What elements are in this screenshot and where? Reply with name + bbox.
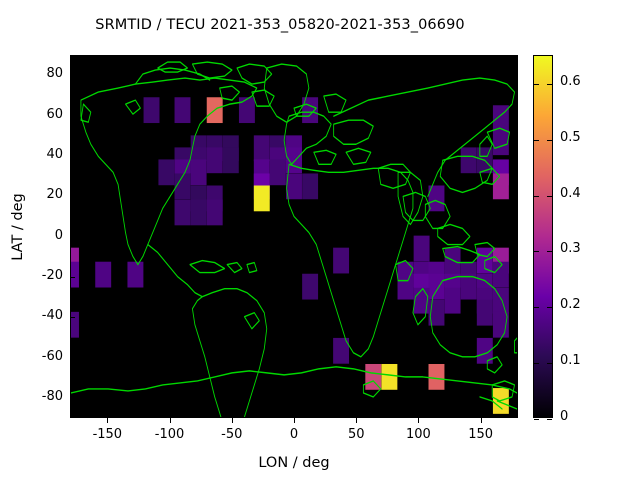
y-axis-tick-label: -60 bbox=[13, 349, 63, 364]
coastline-layer bbox=[71, 56, 517, 417]
colorbar-tick bbox=[547, 307, 552, 308]
y-axis-tick-label: 20 bbox=[13, 187, 63, 202]
y-axis-tick bbox=[513, 237, 518, 238]
x-axis-title: LON / deg bbox=[70, 455, 518, 471]
colorbar-tick bbox=[534, 196, 539, 197]
y-axis-tick-label: 40 bbox=[13, 147, 63, 162]
x-axis-tick bbox=[232, 418, 233, 423]
colorbar-tick-label: 0.6 bbox=[560, 74, 581, 89]
y-axis-tick bbox=[70, 116, 75, 117]
y-axis-tick-label: -20 bbox=[13, 268, 63, 283]
x-axis-tick bbox=[481, 55, 482, 60]
colorbar-tick bbox=[547, 363, 552, 364]
colorbar-tick-label: 0.3 bbox=[560, 241, 581, 256]
figure-canvas: SRMTID / TECU 2021-353_05820-2021-353_06… bbox=[0, 0, 640, 480]
y-axis-tick bbox=[513, 277, 518, 278]
colorbar-tick bbox=[534, 251, 539, 252]
colorbar-tick bbox=[547, 196, 552, 197]
x-axis-tick bbox=[294, 418, 295, 423]
x-axis-tick bbox=[418, 55, 419, 60]
y-axis-tick-label: 0 bbox=[13, 228, 63, 243]
y-axis-tick bbox=[70, 398, 75, 399]
y-axis-tick bbox=[70, 237, 75, 238]
x-axis-tick-label: 0 bbox=[264, 427, 324, 442]
x-axis-tick-label: -100 bbox=[140, 427, 200, 442]
colorbar[interactable] bbox=[533, 55, 553, 418]
y-axis-tick bbox=[70, 156, 75, 157]
y-axis-tick bbox=[70, 277, 75, 278]
x-axis-tick-label: 150 bbox=[451, 427, 511, 442]
y-axis-tick bbox=[70, 317, 75, 318]
x-axis-tick bbox=[481, 418, 482, 423]
y-axis-tick bbox=[513, 156, 518, 157]
y-axis-tick bbox=[513, 75, 518, 76]
x-axis-tick-label: -50 bbox=[202, 427, 262, 442]
colorbar-tick-label: 0 bbox=[560, 409, 568, 424]
x-axis-tick bbox=[418, 418, 419, 423]
x-axis-tick bbox=[170, 418, 171, 423]
y-axis-tick-label: -40 bbox=[13, 308, 63, 323]
colorbar-tick bbox=[534, 140, 539, 141]
y-axis-tick bbox=[513, 358, 518, 359]
colorbar-tick bbox=[547, 140, 552, 141]
map-plot-area[interactable] bbox=[70, 55, 518, 418]
y-axis-tick bbox=[70, 358, 75, 359]
x-axis-tick bbox=[356, 55, 357, 60]
x-axis-tick bbox=[107, 418, 108, 423]
x-axis-tick bbox=[294, 55, 295, 60]
y-axis-tick-label: 60 bbox=[13, 107, 63, 122]
y-axis-tick bbox=[70, 196, 75, 197]
y-axis-tick bbox=[513, 116, 518, 117]
colorbar-tick-label: 0.1 bbox=[560, 353, 581, 368]
y-axis-tick-label: -80 bbox=[13, 389, 63, 404]
x-axis-tick bbox=[170, 55, 171, 60]
y-axis-tick bbox=[513, 196, 518, 197]
y-axis-tick bbox=[513, 398, 518, 399]
colorbar-tick-label: 0.4 bbox=[560, 186, 581, 201]
x-axis-tick-label: 50 bbox=[326, 427, 386, 442]
y-axis-tick bbox=[70, 75, 75, 76]
colorbar-tick bbox=[534, 363, 539, 364]
x-axis-tick bbox=[107, 55, 108, 60]
x-axis-tick-label: -150 bbox=[77, 427, 137, 442]
colorbar-tick bbox=[534, 307, 539, 308]
x-axis-tick bbox=[232, 55, 233, 60]
x-axis-tick-label: 100 bbox=[388, 427, 448, 442]
chart-title: SRMTID / TECU 2021-353_05820-2021-353_06… bbox=[0, 17, 560, 33]
colorbar-tick bbox=[547, 419, 552, 420]
x-axis-tick bbox=[356, 418, 357, 423]
y-axis-tick-label: 80 bbox=[13, 66, 63, 81]
colorbar-tick bbox=[547, 251, 552, 252]
colorbar-tick bbox=[534, 419, 539, 420]
y-axis-tick bbox=[513, 317, 518, 318]
colorbar-tick bbox=[547, 84, 552, 85]
colorbar-tick-label: 0.2 bbox=[560, 297, 581, 312]
colorbar-tick bbox=[534, 84, 539, 85]
colorbar-tick-label: 0.5 bbox=[560, 130, 581, 145]
